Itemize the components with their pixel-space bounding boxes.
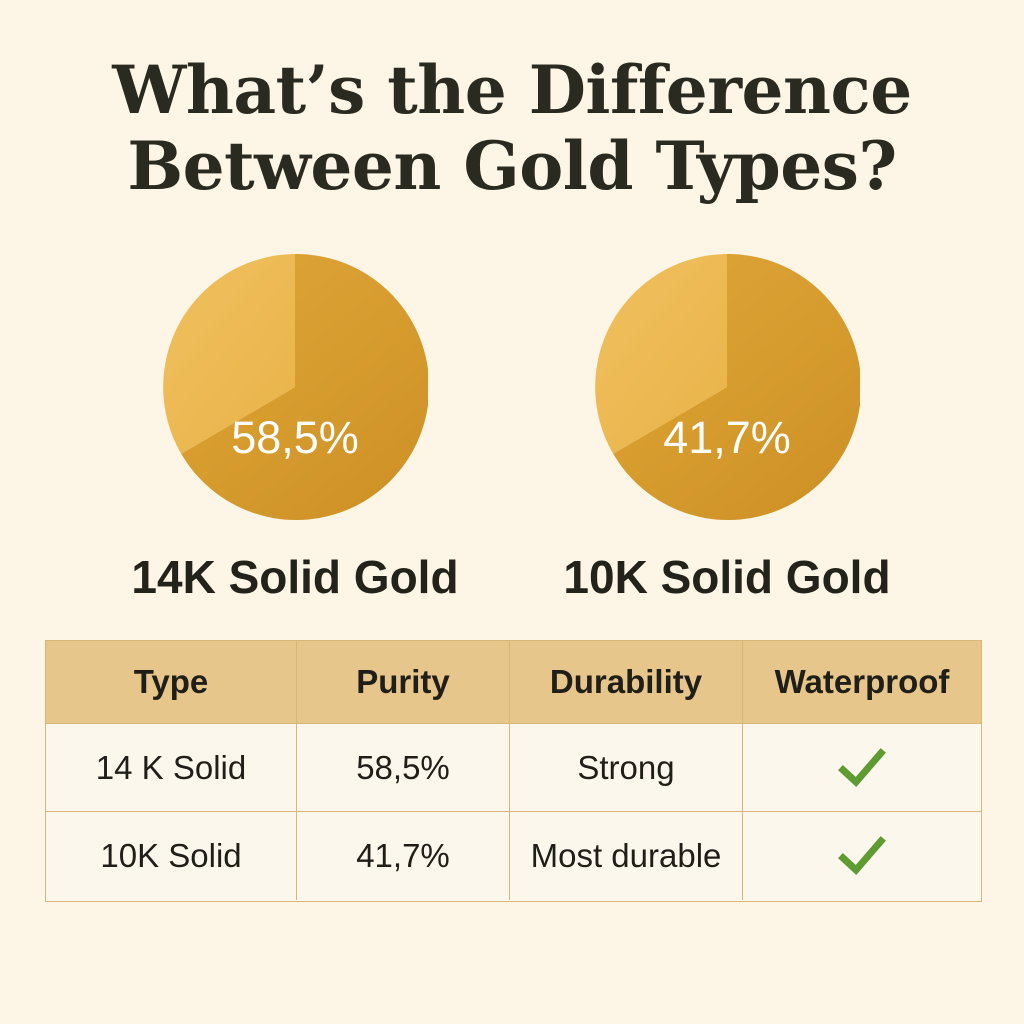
- table-header-row: Type Purity Durability Waterproof: [46, 641, 981, 724]
- table-cell-durability-value: Strong: [577, 749, 674, 787]
- pie-chart-10k-graphic: [594, 254, 860, 520]
- table-cell-durability: Most durable: [510, 812, 743, 900]
- table-cell-type-value: 10K Solid: [100, 837, 241, 875]
- pie-chart-10k: [594, 254, 860, 520]
- pie-chart-14k: [162, 254, 428, 520]
- table-header-label-durability: Durability: [550, 663, 702, 701]
- table-cell-purity-value: 41,7%: [356, 837, 450, 875]
- table-header-cell-waterproof: Waterproof: [743, 641, 981, 723]
- table-cell-waterproof: [743, 724, 981, 811]
- table-cell-purity-value: 58,5%: [356, 749, 450, 787]
- table-cell-durability-value: Most durable: [531, 837, 722, 875]
- table-cell-waterproof: [743, 812, 981, 900]
- table-cell-type: 10K Solid: [46, 812, 297, 900]
- table-header-cell-durability: Durability: [510, 641, 743, 723]
- table-header-cell-purity: Purity: [297, 641, 510, 723]
- table-row: 10K Solid 41,7% Most durable: [46, 812, 981, 900]
- check-icon: [838, 748, 886, 788]
- table-cell-purity: 41,7%: [297, 812, 510, 900]
- pie-chart-14k-caption: 14K Solid Gold: [80, 550, 510, 604]
- table-header-cell-type: Type: [46, 641, 297, 723]
- table-header-label-purity: Purity: [356, 663, 450, 701]
- table-cell-type-value: 14 K Solid: [96, 749, 246, 787]
- table-header-label-waterproof: Waterproof: [775, 663, 950, 701]
- pie-chart-14k-graphic: [162, 254, 428, 520]
- pie-chart-14k-value-label: 58,5%: [162, 412, 428, 464]
- table-row: 14 K Solid 58,5% Strong: [46, 724, 981, 812]
- table-cell-durability: Strong: [510, 724, 743, 811]
- table-header-label-type: Type: [134, 663, 209, 701]
- page-title-line-1: What’s the Difference: [0, 52, 1024, 128]
- check-icon: [838, 836, 886, 876]
- gold-comparison-table: Type Purity Durability Waterproof 14 K S…: [45, 640, 982, 902]
- pie-chart-10k-caption: 10K Solid Gold: [512, 550, 942, 604]
- table-cell-purity: 58,5%: [297, 724, 510, 811]
- gold-types-infographic: What’s the Difference Between Gold Types…: [0, 0, 1024, 1024]
- page-title-line-2: Between Gold Types?: [0, 128, 1024, 204]
- table-cell-type: 14 K Solid: [46, 724, 297, 811]
- page-title: What’s the Difference Between Gold Types…: [0, 52, 1024, 204]
- pie-chart-10k-value-label: 41,7%: [594, 412, 860, 464]
